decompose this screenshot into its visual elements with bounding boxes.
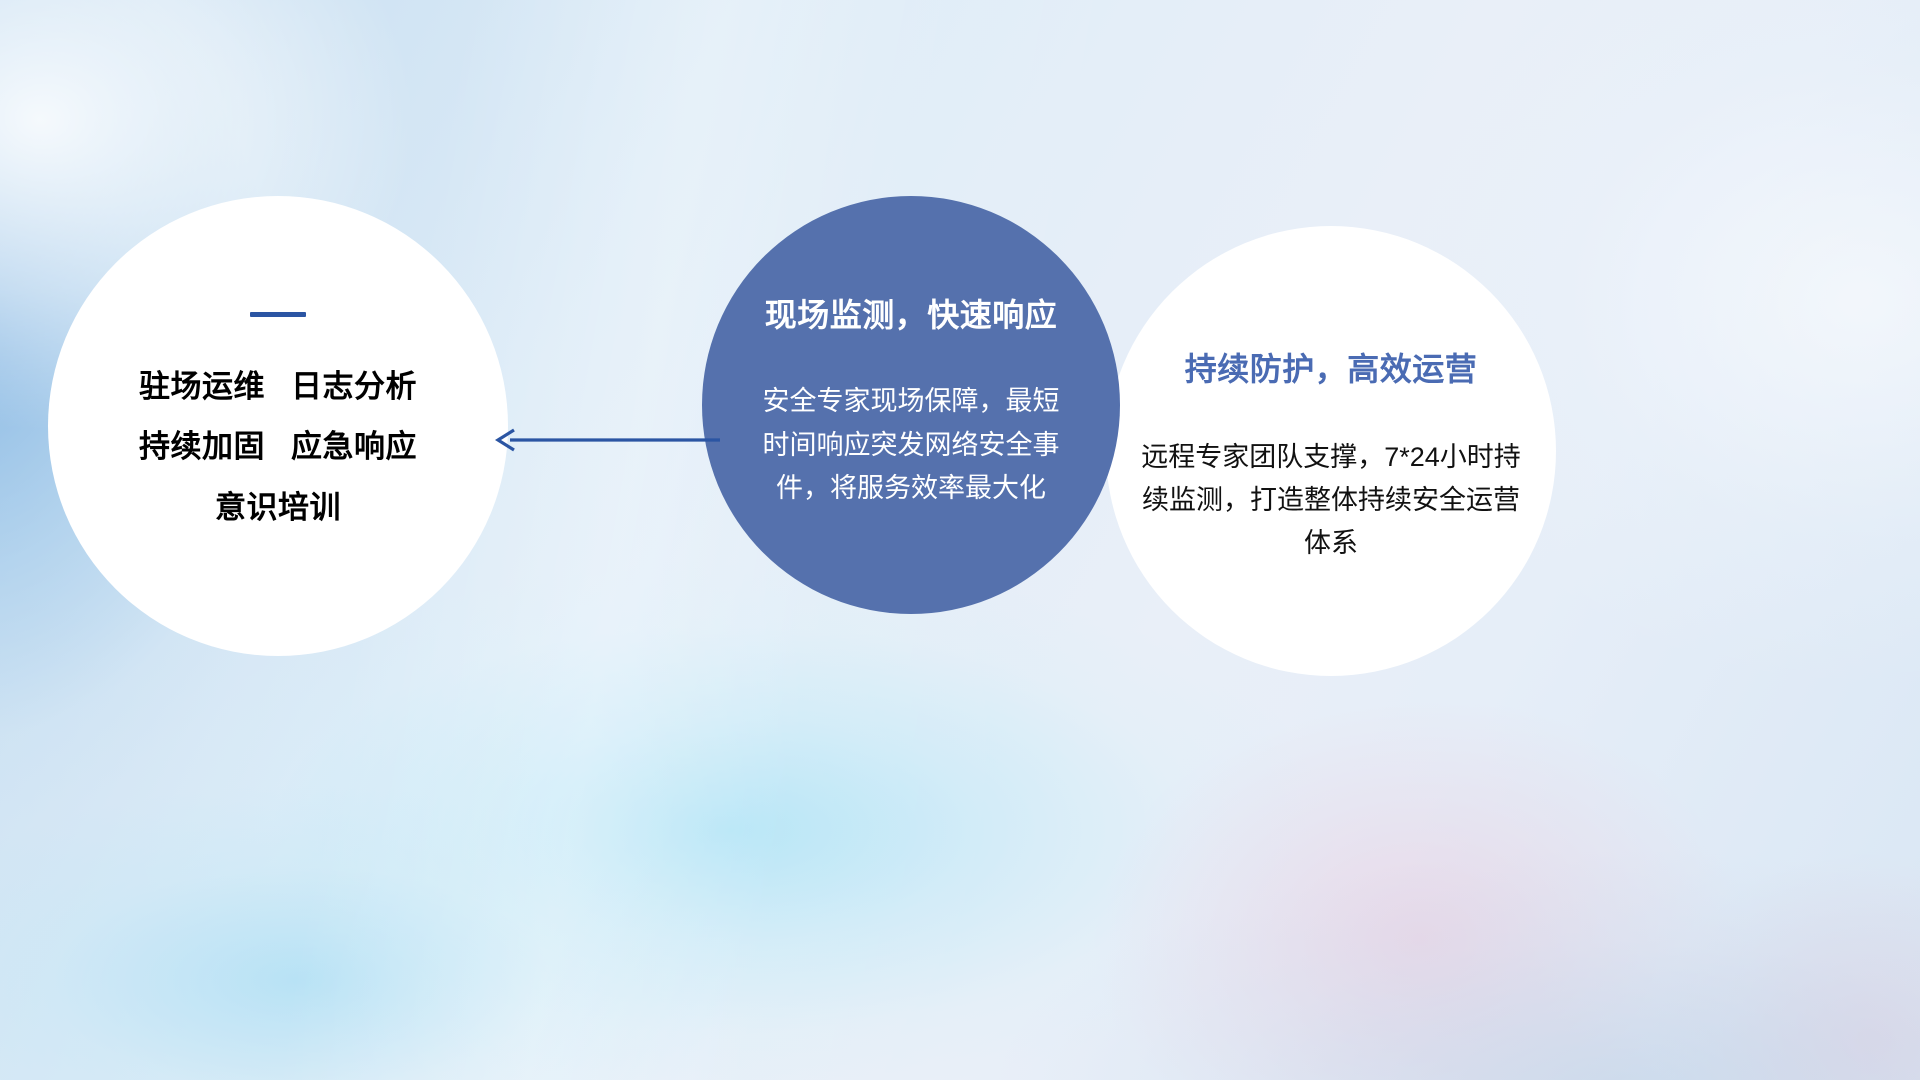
service-item-4: 应急响应 xyxy=(291,429,417,464)
service-line-2: 持续加固应急响应 xyxy=(139,417,417,477)
service-item-1: 驻场运维 xyxy=(139,369,265,404)
onsite-monitoring-title: 现场监测，快速响应 xyxy=(765,290,1058,336)
continuous-protection-title: 持续防护，高效运营 xyxy=(1185,344,1478,390)
service-item-5: 意识培训 xyxy=(215,490,341,525)
onsite-monitoring-body: 安全专家现场保障，最短时间响应突发网络安全事件，将服务效率最大化 xyxy=(753,380,1069,511)
service-item-3: 持续加固 xyxy=(139,429,265,464)
left-pointing-arrow xyxy=(488,414,720,466)
continuous-protection-circle[interactable]: 持续防护，高效运营 远程专家团队支撑，7*24小时持续监测，打造整体持续安全运营… xyxy=(1106,226,1556,676)
driven-services-circle[interactable]: 驻场运维日志分析 持续加固应急响应 意识培训 xyxy=(48,196,508,656)
service-line-1: 驻场运维日志分析 xyxy=(139,357,417,417)
divider-rule xyxy=(250,312,306,317)
service-item-2: 日志分析 xyxy=(291,369,417,404)
service-item-list: 驻场运维日志分析 持续加固应急响应 意识培训 xyxy=(139,357,417,538)
slide-canvas: 驻场运维日志分析 持续加固应急响应 意识培训 持续防护，高效运营 远程专家团队支… xyxy=(0,0,1920,1080)
continuous-protection-body: 远程专家团队支撑，7*24小时持续监测，打造整体持续安全运营体系 xyxy=(1136,436,1526,566)
service-line-3: 意识培训 xyxy=(139,478,417,538)
onsite-monitoring-circle[interactable]: 现场监测，快速响应 安全专家现场保障，最短时间响应突发网络安全事件，将服务效率最… xyxy=(702,196,1120,614)
